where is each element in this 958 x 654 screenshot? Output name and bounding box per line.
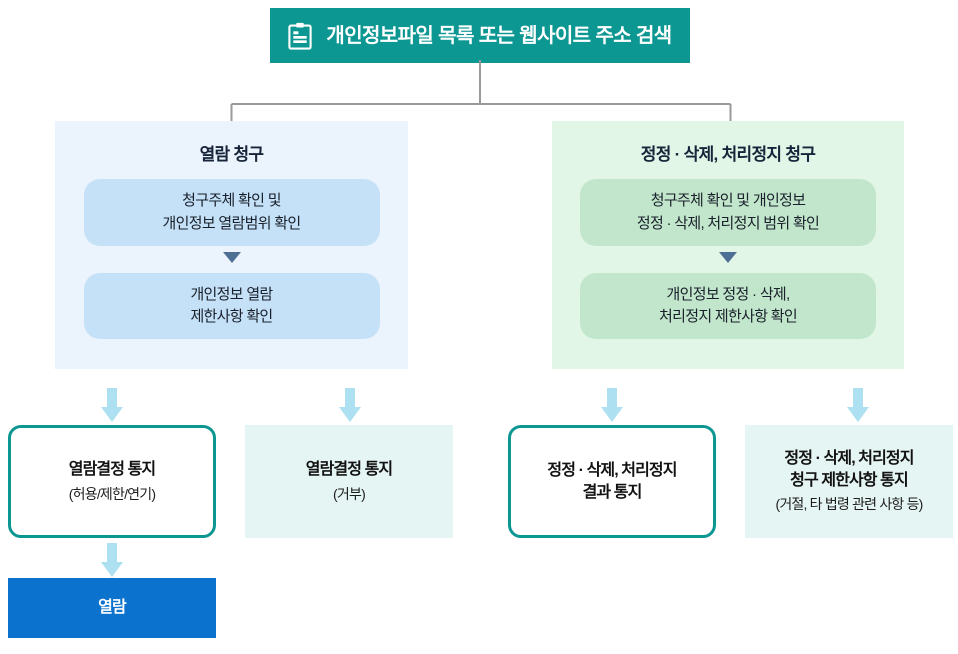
panel-access-request: 열람 청구 청구주체 확인 및 개인정보 열람범위 확인 개인정보 열람 제한사… bbox=[55, 121, 408, 369]
result-line: 정정 · 삭제, 처리정지 bbox=[784, 448, 913, 470]
result-line: 열람결정 통지 bbox=[69, 459, 155, 481]
header-title: 개인정보파일 목록 또는 웹사이트 주소 검색 bbox=[326, 26, 671, 46]
arrow-down-icon bbox=[101, 543, 123, 577]
step-line: 개인정보 정정 · 삭제, bbox=[588, 284, 868, 306]
result-main-text: 정정 · 삭제, 처리정지 결과 통지 bbox=[547, 460, 676, 503]
arrow-down-icon bbox=[339, 388, 361, 422]
clipboard-document-icon bbox=[288, 22, 312, 50]
result-box-correction-result-notice: 정정 · 삭제, 처리정지 결과 통지 bbox=[508, 425, 716, 538]
step-line: 개인정보 열람범위 확인 bbox=[92, 213, 372, 235]
step-line: 개인정보 열람 bbox=[92, 284, 372, 306]
step-connector bbox=[55, 248, 408, 270]
result-sub-text: (거절, 타 법령 관련 사항 등) bbox=[775, 495, 922, 515]
result-line: 청구 제한사항 통지 bbox=[784, 470, 913, 492]
arrow-down-icon bbox=[847, 388, 869, 422]
triangle-down-icon bbox=[223, 252, 241, 263]
result-box-correction-restriction-notice: 정정 · 삭제, 처리정지 청구 제한사항 통지 (거절, 타 법령 관련 사항… bbox=[745, 425, 953, 538]
result-box-access-decision-allow: 열람결정 통지 (허용/제한/연기) bbox=[8, 425, 216, 538]
panel-title-correction-request: 정정 · 삭제, 처리정지 청구 bbox=[552, 145, 904, 165]
step-box-access-scope: 청구주체 확인 및 개인정보 열람범위 확인 bbox=[84, 179, 380, 245]
result-main-text: 열람결정 통지 bbox=[69, 459, 155, 481]
header-banner: 개인정보파일 목록 또는 웹사이트 주소 검색 bbox=[270, 8, 690, 63]
result-main-text: 정정 · 삭제, 처리정지 청구 제한사항 통지 bbox=[784, 448, 913, 491]
result-line: 열람결정 통지 bbox=[306, 459, 392, 481]
step-line: 청구주체 확인 및 개인정보 bbox=[588, 190, 868, 212]
result-sub-text: (허용/제한/연기) bbox=[69, 485, 155, 505]
arrow-down-icon bbox=[601, 388, 623, 422]
result-sub-text: (거부) bbox=[333, 485, 365, 505]
result-box-access-decision-reject: 열람결정 통지 (거부) bbox=[245, 425, 453, 538]
panel-correction-request: 정정 · 삭제, 처리정지 청구 청구주체 확인 및 개인정보 정정 · 삭제,… bbox=[552, 121, 904, 369]
step-box-correction-limits: 개인정보 정정 · 삭제, 처리정지 제한사항 확인 bbox=[580, 273, 876, 339]
connector-lines bbox=[0, 60, 958, 125]
step-line: 처리정지 제한사항 확인 bbox=[588, 306, 868, 328]
step-line: 청구주체 확인 및 bbox=[92, 190, 372, 212]
flowchart-diagram: 개인정보파일 목록 또는 웹사이트 주소 검색 열람 청구 청구주체 확인 및 … bbox=[0, 0, 958, 654]
result-line: 결과 통지 bbox=[547, 482, 676, 504]
arrow-down-icon bbox=[101, 388, 123, 422]
step-box-correction-scope: 청구주체 확인 및 개인정보 정정 · 삭제, 처리정지 범위 확인 bbox=[580, 179, 876, 245]
step-line: 정정 · 삭제, 처리정지 범위 확인 bbox=[588, 213, 868, 235]
panel-title-access-request: 열람 청구 bbox=[55, 145, 408, 165]
result-main-text: 열람결정 통지 bbox=[306, 459, 392, 481]
step-box-access-limits: 개인정보 열람 제한사항 확인 bbox=[84, 273, 380, 339]
final-box-access-granted: 열람 bbox=[8, 578, 216, 638]
step-connector bbox=[552, 248, 904, 270]
final-box-label: 열람 bbox=[98, 600, 126, 616]
result-line: 정정 · 삭제, 처리정지 bbox=[547, 460, 676, 482]
step-line: 제한사항 확인 bbox=[92, 306, 372, 328]
triangle-down-icon bbox=[719, 252, 737, 263]
